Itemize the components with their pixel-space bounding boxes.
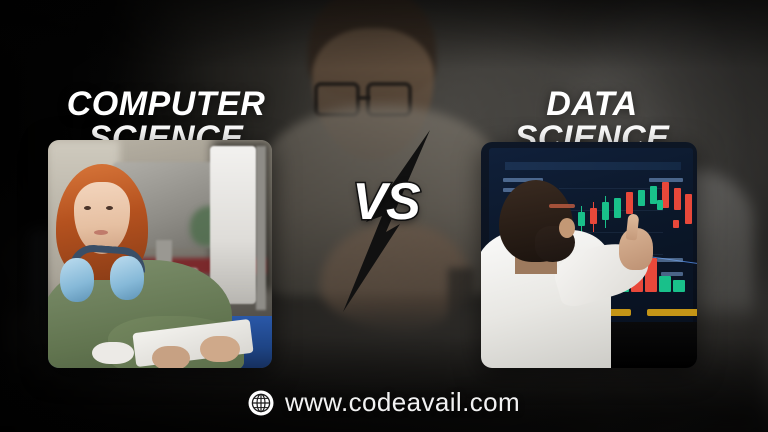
poster-canvas: COMPUTER SCIENCE DATA SCIENCE <box>0 0 768 432</box>
left-photo-mouse <box>92 342 134 364</box>
left-photo-second-screen <box>210 146 256 304</box>
candle-body <box>626 192 633 214</box>
photo-card-computer-science <box>48 140 272 368</box>
candle-body <box>638 190 645 206</box>
left-photo-eye-right <box>106 206 113 210</box>
right-photo-cta-button <box>647 309 697 316</box>
candle-body <box>602 202 609 220</box>
candle-body <box>657 200 663 210</box>
volume-bar <box>673 280 685 292</box>
candle-body <box>578 212 585 226</box>
right-photo-ui-label <box>657 258 683 262</box>
candle-body <box>650 186 657 204</box>
vs-label: VS <box>326 176 446 228</box>
volume-bar <box>659 276 671 292</box>
globe-icon <box>248 390 274 416</box>
left-photo-hand-right <box>200 336 240 362</box>
vs-divider: VS <box>326 112 446 328</box>
right-photo-screen-topbar <box>505 162 681 170</box>
right-photo-ear <box>559 218 575 238</box>
footer: www.codeavail.com <box>0 387 768 418</box>
left-photo-second-screen-edge <box>256 146 266 310</box>
candle-body <box>590 208 597 224</box>
title-right-line1: DATA <box>546 85 637 123</box>
candle-body <box>673 220 679 228</box>
title-left-line1: COMPUTER <box>67 85 266 123</box>
left-photo-eye-left <box>84 206 91 210</box>
candle-body <box>685 194 692 224</box>
left-photo-headphone-cup-right <box>110 256 144 300</box>
site-url[interactable]: www.codeavail.com <box>285 387 520 418</box>
photo-card-data-science <box>481 142 697 368</box>
right-photo-glasses <box>549 204 575 208</box>
right-photo-ui-label <box>649 178 683 182</box>
left-photo-headphone-cup-left <box>60 258 94 302</box>
left-photo-hand-left <box>152 346 190 368</box>
left-photo-mouth <box>94 230 108 235</box>
candle-body <box>662 182 669 208</box>
candle-body <box>674 188 681 210</box>
right-photo-ui-label <box>661 272 683 276</box>
candle-body <box>614 198 621 218</box>
